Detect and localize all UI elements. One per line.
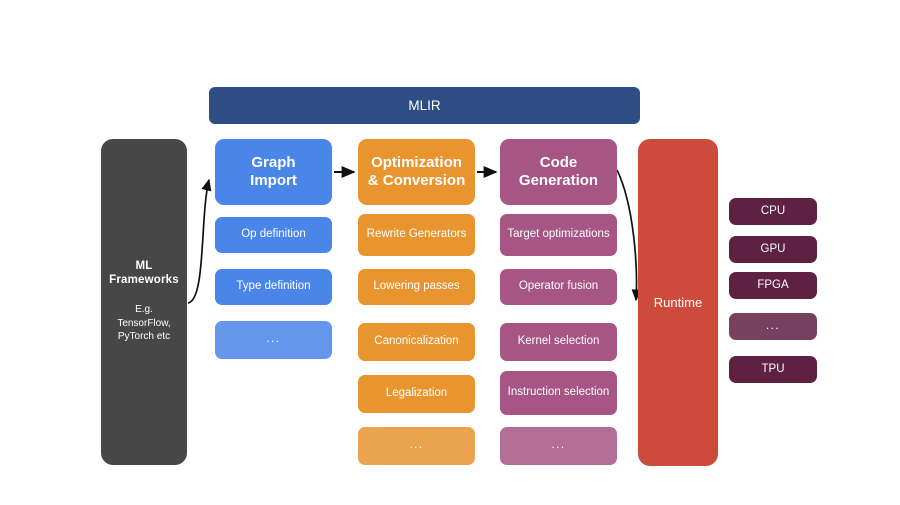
item-canonicalization[interactable]: Canonicalization bbox=[358, 323, 475, 361]
hardware-label: GPU bbox=[761, 243, 786, 257]
item-label: ... bbox=[409, 439, 423, 453]
diagram-canvas: MLIR ML Frameworks E.g. TensorFlow, PyTo… bbox=[0, 0, 900, 505]
item-kernel-selection[interactable]: Kernel selection bbox=[500, 323, 617, 361]
mlir-header-bar: MLIR bbox=[209, 87, 640, 124]
ml-frameworks-subtitle-line: PyTorch etc bbox=[117, 330, 170, 344]
hardware-label: ... bbox=[766, 320, 780, 334]
stage-optimization-conversion[interactable]: Optimization & Conversion bbox=[358, 139, 475, 205]
hardware-target-cpu[interactable]: CPU bbox=[729, 198, 817, 225]
hardware-target-fpga[interactable]: FPGA bbox=[729, 272, 817, 299]
runtime-label: Runtime bbox=[654, 295, 702, 310]
item-rewrite-generators[interactable]: Rewrite Generators bbox=[358, 214, 475, 256]
item-blue-more[interactable]: ... bbox=[215, 321, 332, 359]
item-label: Op definition bbox=[241, 228, 306, 242]
hardware-target-gpu[interactable]: GPU bbox=[729, 236, 817, 263]
item-label: Operator fusion bbox=[519, 280, 598, 294]
stage-label-line: Optimization bbox=[368, 154, 466, 172]
ml-frameworks-subtitle-line: TensorFlow, bbox=[117, 317, 170, 331]
item-label: Target optimizations bbox=[507, 228, 609, 242]
stage-label-line: Import bbox=[250, 172, 297, 190]
stage-label-line: Graph bbox=[250, 154, 297, 172]
hardware-target-more[interactable]: ... bbox=[729, 313, 817, 340]
stage-label-line: Generation bbox=[519, 172, 598, 190]
item-label: Legalization bbox=[386, 387, 447, 401]
item-label: Kernel selection bbox=[518, 335, 600, 349]
item-label: ... bbox=[266, 333, 280, 347]
item-label: Canonicalization bbox=[374, 335, 458, 349]
item-purple-more[interactable]: ... bbox=[500, 427, 617, 465]
stage-label-line: & Conversion bbox=[368, 172, 466, 190]
item-label: Type definition bbox=[236, 280, 310, 294]
item-orange-more[interactable]: ... bbox=[358, 427, 475, 465]
hardware-target-tpu[interactable]: TPU bbox=[729, 356, 817, 383]
hardware-label: TPU bbox=[762, 363, 785, 377]
item-target-optimizations[interactable]: Target optimizations bbox=[500, 214, 617, 256]
item-label: Rewrite Generators bbox=[367, 228, 467, 242]
runtime-box[interactable]: Runtime bbox=[638, 139, 718, 466]
item-op-definition[interactable]: Op definition bbox=[215, 217, 332, 253]
mlir-header-label: MLIR bbox=[408, 98, 440, 114]
hardware-label: FPGA bbox=[757, 279, 788, 293]
item-label: ... bbox=[551, 439, 565, 453]
item-operator-fusion[interactable]: Operator fusion bbox=[500, 269, 617, 305]
stage-graph-import[interactable]: Graph Import bbox=[215, 139, 332, 205]
ml-frameworks-subtitle-line: E.g. bbox=[117, 303, 170, 317]
stage-code-generation[interactable]: Code Generation bbox=[500, 139, 617, 205]
hardware-label: CPU bbox=[761, 205, 785, 219]
ml-frameworks-box: ML Frameworks E.g. TensorFlow, PyTorch e… bbox=[101, 139, 187, 465]
ml-frameworks-subtitle: E.g. TensorFlow, PyTorch etc bbox=[117, 303, 170, 344]
item-lowering-passes[interactable]: Lowering passes bbox=[358, 269, 475, 305]
item-legalization[interactable]: Legalization bbox=[358, 375, 475, 413]
arrow-frameworks-to-graph-import bbox=[188, 180, 209, 303]
ml-frameworks-title: ML Frameworks bbox=[101, 260, 187, 287]
item-instruction-selection[interactable]: Instruction selection bbox=[500, 371, 617, 415]
item-type-definition[interactable]: Type definition bbox=[215, 269, 332, 305]
arrow-code-generation-to-runtime bbox=[617, 170, 636, 300]
item-label: Instruction selection bbox=[508, 386, 610, 400]
stage-label-line: Code bbox=[519, 154, 598, 172]
item-label: Lowering passes bbox=[373, 280, 459, 294]
